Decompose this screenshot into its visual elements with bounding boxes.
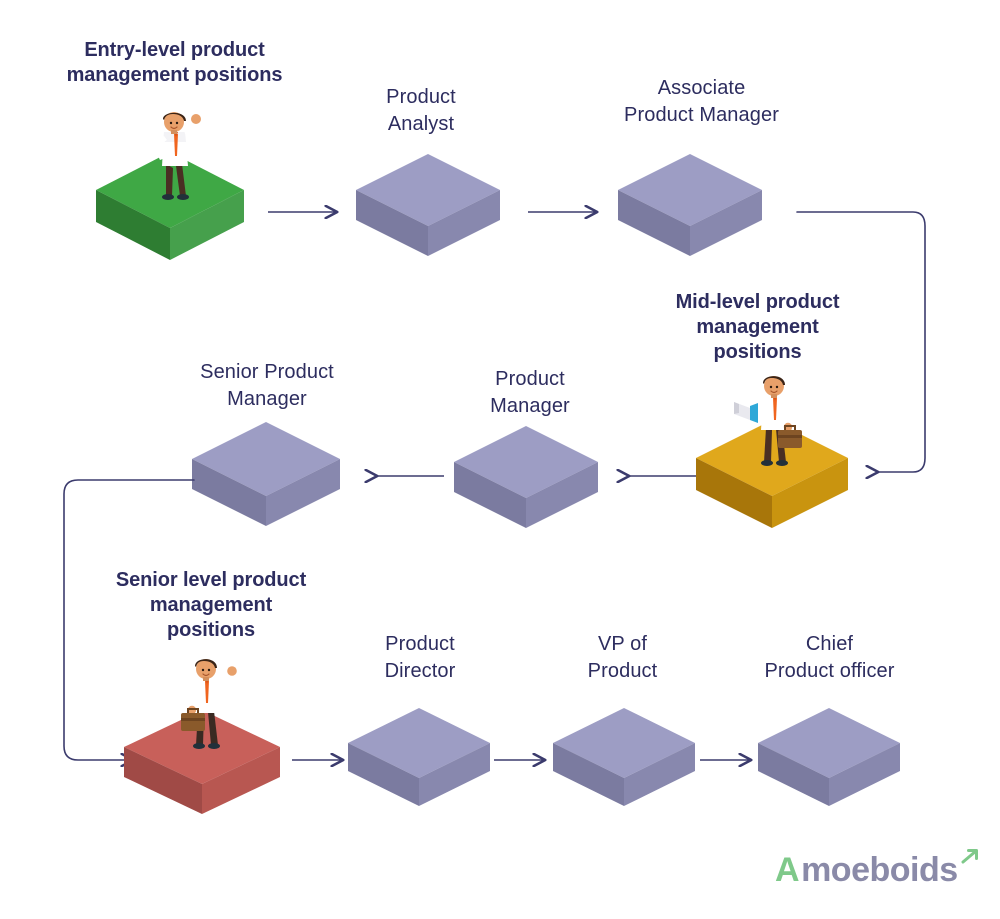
arrow-product-analyst-to-associate [526, 202, 606, 222]
logo-initial: A [775, 853, 799, 887]
box-senior-product-manager [190, 420, 342, 532]
box-vp-of-product [551, 706, 697, 812]
character-entry-waving [140, 108, 210, 206]
role-label-product-manager: Product Manager [450, 366, 610, 420]
character-mid-megaphone [730, 372, 822, 472]
box-chief-product-officer [756, 706, 902, 812]
arrow-product-director-to-vp [492, 750, 554, 770]
diagram-canvas: Entry-level product management positions… [0, 0, 1000, 919]
tier-heading-senior: Senior level product management position… [95, 568, 327, 643]
box-associate-product-manager [616, 152, 764, 262]
arrow-product-manager-to-senior-product-manager [366, 466, 448, 486]
role-label-chief-product-officer: Chief Product officer [742, 631, 917, 685]
logo-arrow-icon [960, 848, 980, 871]
amoeboids-logo: A moeboids [775, 848, 980, 887]
arrow-mid-to-product-manager [618, 466, 700, 486]
box-product-analyst [354, 152, 502, 262]
character-senior-briefcase [168, 655, 252, 755]
role-label-associate-product-manager: Associate Product Manager [594, 75, 809, 129]
role-label-product-analyst: Product Analyst [336, 84, 506, 138]
role-label-product-director: Product Director [340, 631, 500, 685]
arrow-entry-to-product-analyst [266, 202, 346, 222]
role-label-vp-of-product: VP of Product [545, 631, 700, 685]
arrow-vp-to-chief-product-officer [698, 750, 760, 770]
logo-wordmark: moeboids [801, 853, 958, 887]
tier-heading-entry: Entry-level product management positions [52, 38, 297, 88]
arrow-senior-to-product-director [290, 750, 352, 770]
box-product-director [346, 706, 492, 812]
tier-heading-mid: Mid-level product management positions [655, 290, 860, 365]
role-label-senior-product-manager: Senior Product Manager [178, 359, 356, 413]
box-product-manager [452, 424, 600, 534]
